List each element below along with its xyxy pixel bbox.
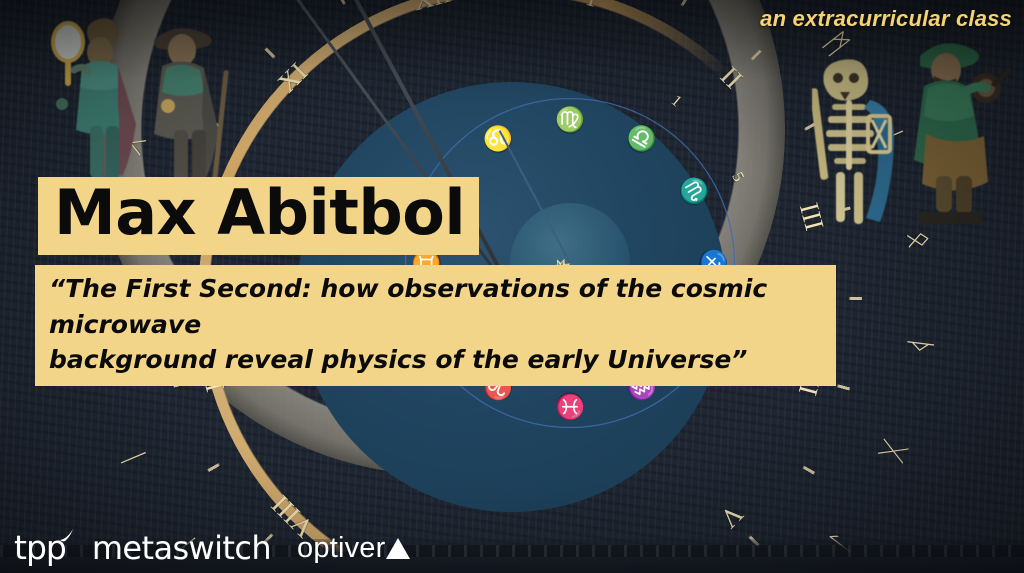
kicker-label: an extracurricular class — [760, 6, 1012, 32]
talk-title-line-2: background reveal physics of the early U… — [49, 342, 824, 378]
sponsor-logo-metaswitch-wordmark: metaswitch — [92, 533, 271, 563]
bird-swoosh-icon — [59, 528, 75, 544]
statue-miser-left — [130, 10, 240, 190]
sponsor-logo-optiver: optiver — [297, 534, 410, 563]
presentation-slide: ᎠᚠᚱᛗᛁᛟᚦᚷᛇᛞᛦᛝᎠᚠᚱᛗᛁᛟᚦᚷᛇᛞᛦᛝIIIIIIIIIIVVIVII… — [0, 0, 1024, 573]
sponsor-logo-metaswitch: metaswitch — [92, 533, 271, 563]
sponsor-logo-tpp: tpp — [14, 532, 66, 563]
talk-title-banner: “The First Second: how observations of t… — [35, 265, 836, 386]
sponsor-logo-strip: tpp metaswitch optiver — [14, 532, 410, 563]
statue-chronicler-right — [890, 26, 1010, 226]
speaker-name-banner: Max Abitbol — [38, 177, 479, 255]
talk-title-line-1: “The First Second: how observations of t… — [49, 271, 824, 342]
page-title: Max Abitbol — [54, 180, 465, 246]
delta-triangle-icon — [386, 538, 410, 559]
sponsor-logo-optiver-wordmark: optiver — [297, 534, 385, 563]
